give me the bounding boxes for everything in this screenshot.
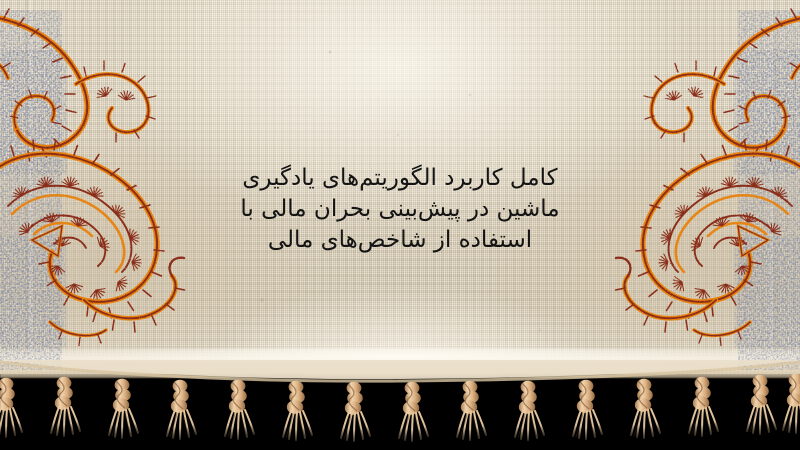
title-line-3: استفاده از شاخص‌های مالی	[190, 225, 610, 256]
title-line-1: کامل کاربرد الگوریتم‌های یادگیری	[190, 163, 610, 194]
tassel-fringe	[0, 360, 800, 450]
title-line-2: ماشین در پیش‌بینی بحران مالی با	[190, 194, 610, 225]
slide-canvas: کامل کاربرد الگوریتم‌های یادگیری ماشین د…	[0, 0, 800, 450]
slide-title: کامل کاربرد الگوریتم‌های یادگیری ماشین د…	[190, 163, 610, 256]
